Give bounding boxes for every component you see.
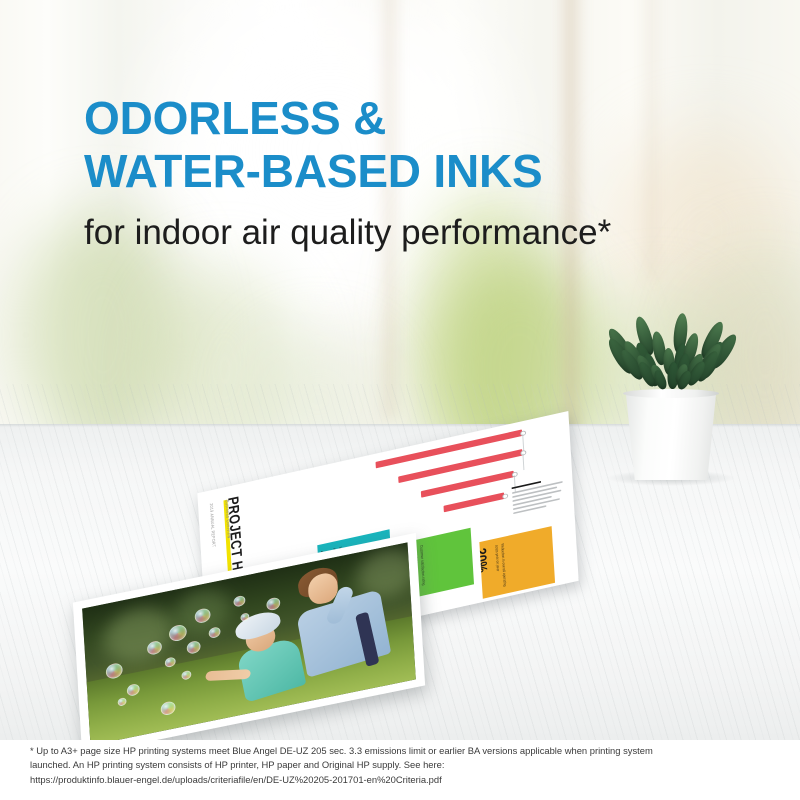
headline-line-1: ODORLESS & [84, 92, 744, 145]
ceramic-pot [622, 394, 720, 480]
footer-band: * Up to A3+ page size HP printing system… [0, 740, 800, 800]
bar-guide-line [522, 434, 524, 450]
pot-rim [623, 389, 719, 398]
footnote-block: * Up to A3+ page size HP printing system… [30, 744, 778, 787]
poster-canvas: 2019 ANNUAL REPORT Business Overview PRO… [0, 0, 800, 800]
headline-block: ODORLESS & WATER-BASED INKS [84, 92, 744, 198]
subheadline: for indoor air quality performance* [84, 212, 611, 254]
kpi-card: 20% Reduction in overall operating costs… [479, 526, 555, 599]
kpi-percent: 20% [479, 547, 490, 575]
potted-succulent [596, 306, 746, 480]
bar-fill [443, 492, 504, 512]
bar-row [443, 492, 504, 512]
bar-end-dot [502, 493, 508, 499]
footnote-line-2: launched. An HP printing system consists… [30, 758, 778, 772]
footnote-url[interactable]: https://produktinfo.blauer-engel.de/uplo… [30, 773, 778, 787]
kpi-blurb: Reduction in overall operating costs yea… [494, 543, 508, 591]
footnote-line-1: * Up to A3+ page size HP printing system… [30, 744, 778, 758]
window-frame-post [382, 0, 398, 420]
bar-guide-line [523, 454, 525, 470]
headline-line-2: WATER-BASED INKS [84, 145, 744, 198]
